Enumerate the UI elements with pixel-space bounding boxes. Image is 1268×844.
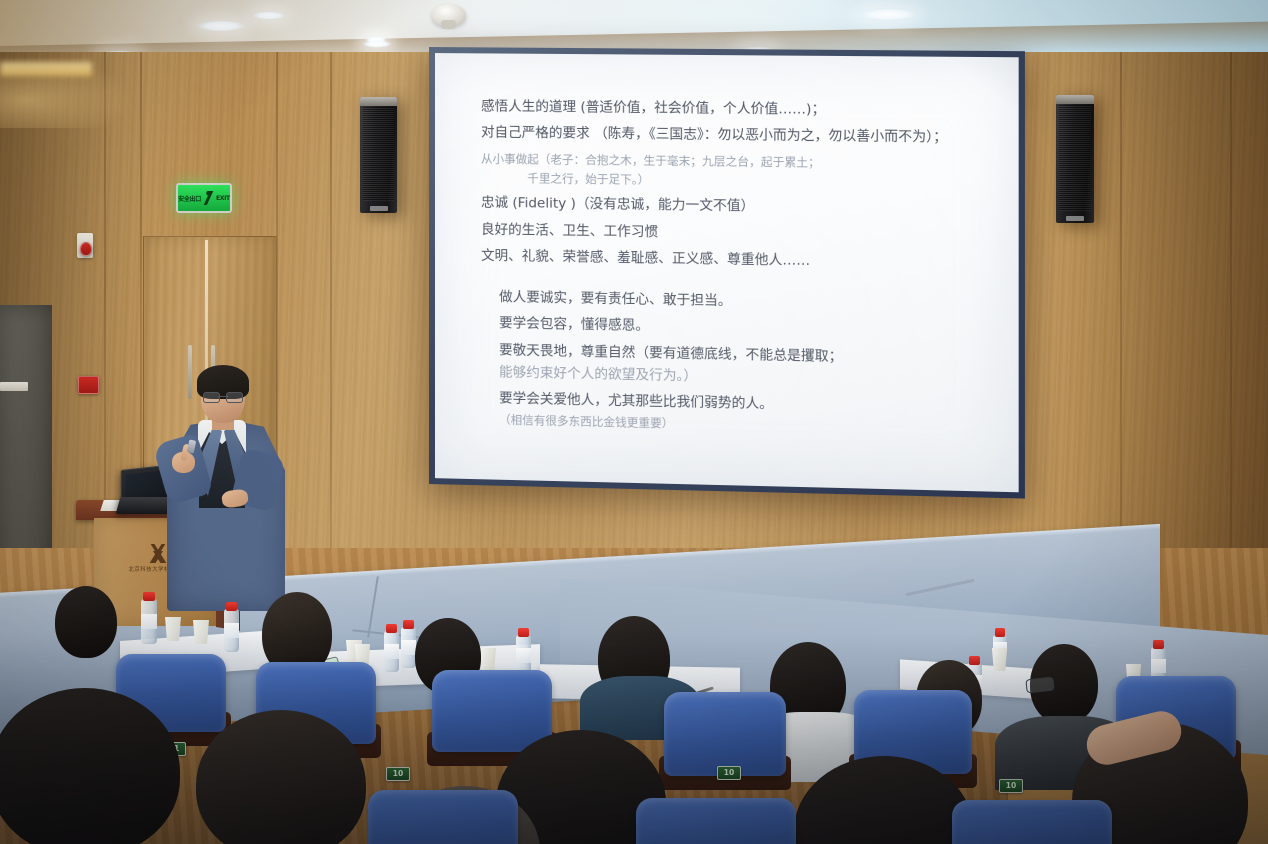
alarm-bell: [80, 242, 92, 256]
slide-line: 要敬天畏地，尊重自然（要有道德底线，不能总是攫取；: [481, 343, 987, 369]
fire-alarm-pull-station[interactable]: [78, 376, 99, 394]
speaker-top-cap: [1056, 95, 1094, 104]
slide-line: 从小事做起（老子：合抱之木，生于毫末；九层之台，起于累土；: [481, 152, 987, 172]
auditorium-seat-front[interactable]: [636, 798, 796, 844]
wall-speaker-left: [360, 97, 397, 213]
water-bottle[interactable]: [384, 624, 399, 672]
door-handle[interactable]: [188, 345, 192, 399]
lecture-hall-photo: 安全出口 EXIT 感悟人生的道理 (普适价值，社会价值，个人价值……)； 对自…: [0, 0, 1268, 844]
slide-line: 能够约束好个人的欲望及行为。）: [481, 365, 987, 391]
water-bottle[interactable]: [141, 592, 157, 644]
slide-line: （相信有很多东西比金钱更重要）: [481, 413, 987, 438]
speaker-top-cap: [360, 97, 397, 106]
ceiling-downlight: [196, 20, 246, 32]
water-bottle[interactable]: [401, 620, 416, 668]
seat-number-plate: 10: [999, 779, 1023, 793]
presentation-slide: 感悟人生的道理 (普适价值，社会价值，个人价值……)； 对自己严格的要求 （陈寿…: [435, 53, 1019, 492]
seat-cushion: [368, 790, 518, 844]
speaker-grille: [363, 107, 394, 201]
seat-cushion: [432, 670, 552, 752]
exit-sign-label-right: EXIT: [216, 195, 230, 202]
running-man-icon: [203, 191, 214, 205]
auditorium-seat[interactable]: [664, 692, 786, 776]
slide-line: 良好的生活、卫生、工作习惯: [481, 223, 987, 246]
wall-speaker-right: [1056, 95, 1094, 223]
ceiling-downlight: [860, 8, 918, 21]
ceiling-downlight: [252, 11, 286, 20]
seat-number-plate: 10: [717, 766, 741, 780]
seat-cushion: [664, 692, 786, 776]
seat-cushion: [636, 798, 796, 844]
seat-number-plate: 10: [386, 767, 410, 781]
speaker-grille: [1059, 105, 1091, 211]
slide-line: 忠诚 (Fidelity )（没有忠诚，能力一文不值）: [481, 196, 987, 219]
projection-screen: 感悟人生的道理 (普适价值，社会价值，个人价值……)； 对自己严格的要求 （陈寿…: [435, 53, 1019, 492]
slide-line: 要学会包容，懂得感恩。: [481, 316, 987, 341]
auditorium-seat-front[interactable]: [368, 790, 518, 844]
speaker-brand-logo: [370, 206, 388, 211]
slide-line: 文明、礼貌、荣誉感、羞耻感、正义感、尊重他人……: [481, 249, 987, 273]
acoustic-panel: [0, 305, 52, 580]
presenter-glasses: [203, 392, 243, 401]
projection-screen-frame: 感悟人生的道理 (普适价值，社会价值，个人价值……)； 对自己严格的要求 （陈寿…: [429, 47, 1025, 499]
smoke-detector: [432, 4, 466, 26]
auditorium-seat-front[interactable]: [952, 800, 1112, 844]
slide-line: 对自己严格的要求 （陈寿，《三国志》：勿以恶小而为之，勿以善小而不为）；: [481, 126, 987, 147]
audience-head: [55, 586, 117, 658]
seat-cushion: [952, 800, 1112, 844]
water-bottle[interactable]: [516, 628, 531, 676]
speaker-brand-logo: [1066, 216, 1084, 221]
slide-line: 千里之行，始于足下。）: [481, 172, 987, 192]
cove-light: [0, 62, 92, 76]
slide-line: 感悟人生的道理 (普适价值，社会价值，个人价值……)；: [481, 99, 987, 120]
emergency-exit-sign: 安全出口 EXIT: [176, 183, 232, 213]
ceiling-downlight: [362, 40, 392, 48]
water-bottle[interactable]: [224, 602, 239, 652]
wall-vent-slot: [0, 382, 28, 391]
exit-sign-label-left: 安全出口: [178, 194, 201, 203]
auditorium-seat[interactable]: [432, 670, 552, 752]
audience-glasses: [1025, 677, 1054, 694]
